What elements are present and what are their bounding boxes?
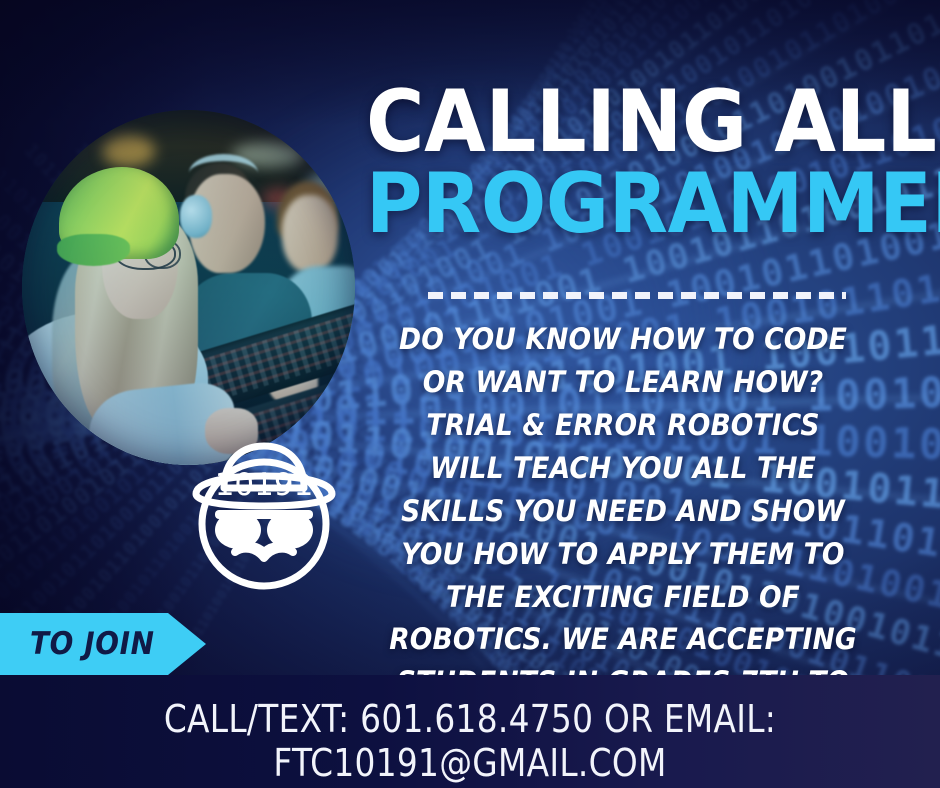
- logo-mustache: [235, 546, 293, 558]
- poster: 1011010010110100101101001011010010110100…: [0, 0, 940, 788]
- to-join-ribbon[interactable]: To Join: [0, 613, 206, 675]
- photo-edge-shadow: [22, 110, 355, 465]
- to-join-label: To Join: [30, 626, 155, 662]
- logo-svg: 10191: [172, 432, 357, 592]
- team-logo: 10191: [172, 432, 357, 592]
- contact-info: Call/Text: 601.618.4750 or Email: ftc101…: [19, 697, 921, 785]
- headline-line-2: Programmers: [366, 168, 939, 239]
- logo-sunglasses: [215, 510, 313, 549]
- logo-team-number: 10191: [215, 467, 314, 503]
- headline: Calling All Programmers: [366, 86, 922, 239]
- students-photo: [22, 110, 355, 465]
- footer-bar: Call/Text: 601.618.4750 or Email: ftc101…: [0, 675, 940, 788]
- headline-line-1: Calling All: [366, 86, 939, 160]
- dashed-divider: [428, 292, 846, 299]
